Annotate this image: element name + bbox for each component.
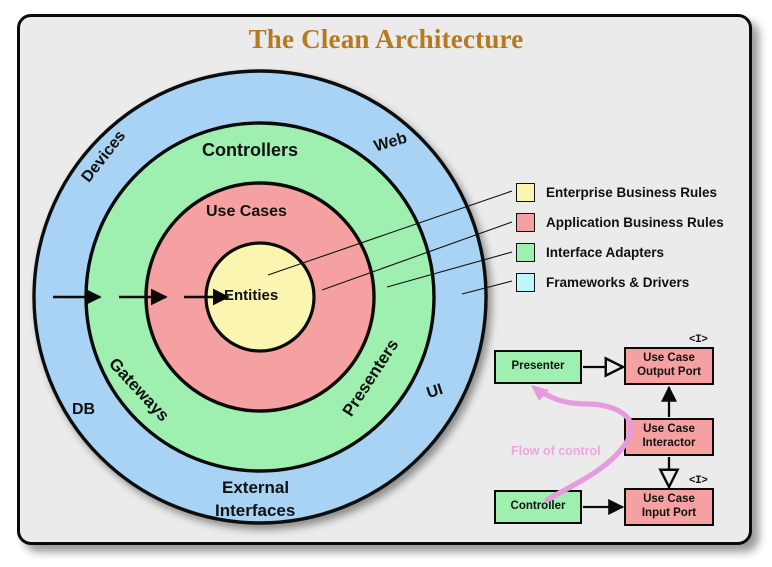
clean-architecture-diagram: The Clean Architecture Entities — [0, 0, 772, 567]
flow-of-control-label: Flow of control — [511, 444, 601, 458]
uml-connectors-layer — [0, 0, 772, 567]
